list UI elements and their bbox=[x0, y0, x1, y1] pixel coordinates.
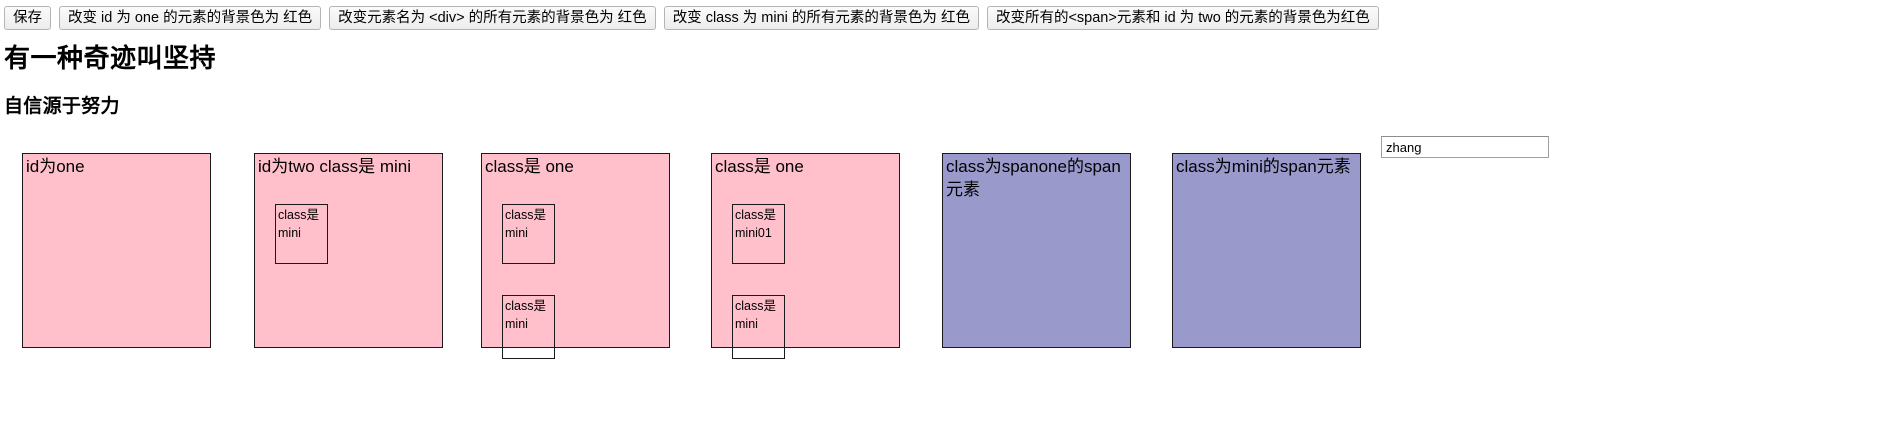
name-input[interactable] bbox=[1381, 136, 1549, 158]
span-spanone[interactable]: class为spanone的span元素 bbox=[942, 153, 1131, 348]
mini-box[interactable]: class是 mini bbox=[732, 295, 785, 359]
span-spanone-label: class为spanone的span元素 bbox=[946, 156, 1127, 202]
div-class-one-b[interactable]: class是 one class是 mini01 class是 mini bbox=[711, 153, 900, 348]
div-class-one-a[interactable]: class是 one class是 mini class是 mini bbox=[481, 153, 670, 348]
div-class-one-b-label: class是 one bbox=[715, 156, 896, 179]
div-one[interactable]: id为one bbox=[22, 153, 211, 348]
div-two[interactable]: id为two class是 mini class是 mini bbox=[254, 153, 443, 348]
mini-box[interactable]: class是 mini bbox=[502, 204, 555, 264]
mini-box[interactable]: class是 mini bbox=[502, 295, 555, 359]
mini-box[interactable]: class是 mini01 bbox=[732, 204, 785, 264]
div-two-label: id为two class是 mini bbox=[258, 156, 439, 179]
box-row: id为one id为two class是 mini class是 mini cl… bbox=[0, 0, 1894, 434]
div-one-label: id为one bbox=[26, 156, 207, 179]
div-class-one-a-label: class是 one bbox=[485, 156, 666, 179]
span-mini[interactable]: class为mini的span元素 bbox=[1172, 153, 1361, 348]
span-mini-label: class为mini的span元素 bbox=[1176, 156, 1357, 179]
mini-box[interactable]: class是 mini bbox=[275, 204, 328, 264]
